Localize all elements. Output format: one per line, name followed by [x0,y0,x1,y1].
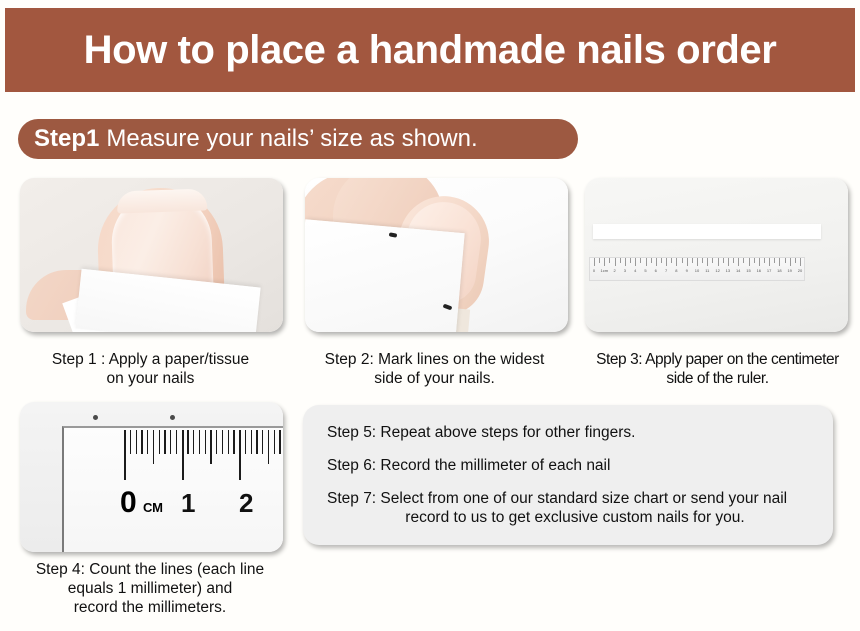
small-ruler-number: 19 [787,269,791,273]
photo-apply-paper [20,178,283,332]
ruler-minor-tick [164,430,165,454]
ruler-minor-tick [228,430,229,454]
header-banner: How to place a handmade nails order [5,8,855,92]
ruler-minor-tick [136,430,137,454]
ruler-zero-label: 0 [120,488,137,518]
small-ruler-number: 11 [705,269,709,273]
small-ruler-number: 10 [695,269,699,273]
ruler-unit-label: CM [143,500,163,515]
caption-step-1-line-2: on your nails [8,369,293,388]
small-ruler: 01cm234567891011121314151617181920 [589,257,805,281]
caption-step-4-line-1: Step 4: Count the lines (each line [0,560,300,579]
ruler-minor-tick [268,430,269,464]
small-ruler-number: 3 [624,269,626,273]
ruler-minor-tick [216,430,217,454]
ruler-major-tick [182,430,184,480]
page-title: How to place a handmade nails order [84,30,777,70]
small-ruler-number: 15 [746,269,750,273]
ruler-minor-tick [199,430,200,454]
ruler-minor-tick [193,430,194,454]
step-7-line-1: Step 7: Select from one of our standard … [327,490,787,507]
small-ruler-number: 2 [613,269,615,273]
small-ruler-number: 12 [715,269,719,273]
small-ruler-number: 20 [798,269,802,273]
ruler-number-1: 1 [181,490,195,516]
small-ruler-number: 17 [767,269,771,273]
caption-step-4-line-3: record the millimeters. [0,598,300,617]
caption-step-2-line-1: Step 2: Mark lines on the widest [292,350,577,369]
step1-text: Measure your nails’ size as shown. [106,125,477,153]
caption-step-4: Step 4: Count the lines (each line equal… [0,560,300,617]
small-ruler-number: 16 [757,269,761,273]
ruler-minor-tick [205,430,206,454]
ruler-minor-tick [141,430,142,454]
photo-apply-paper-image [20,178,283,332]
ruler-minor-tick [274,430,275,454]
caption-step-3-line-1: Step 3: Apply paper on the centimeter [575,350,860,369]
ruler-number-2: 2 [239,490,253,516]
ruler-minor-tick [170,430,171,454]
steps-panel: Step 5: Repeat above steps for other fin… [303,405,833,545]
small-ruler-number: 5 [644,269,646,273]
step1-banner: Step1 Measure your nails’ size as shown. [18,119,578,159]
photo-mark-lines-image [305,178,568,332]
small-ruler-number: 9 [686,269,688,273]
small-ruler-number: 8 [675,269,677,273]
caption-step-1-line-1: Step 1 : Apply a paper/tissue [8,350,293,369]
small-ruler-number: 6 [655,269,657,273]
photo-paper-on-ruler: 01cm234567891011121314151617181920 [585,178,848,332]
small-ruler-number: 14 [736,269,740,273]
small-ruler-number: 0 [593,269,595,273]
photo-mark-lines [305,178,568,332]
step-7-line-2: record to us to get exclusive custom nai… [327,508,809,527]
ruler-minor-tick [153,430,154,464]
ruler-minor-tick [159,430,160,454]
photo-ruler-closeup: 0 CM 1 2 3 [20,402,283,552]
ruler-minor-tick [279,430,280,454]
caption-step-3-line-2: side of the ruler. [575,369,860,388]
ruler-major-tick [124,430,126,480]
caption-step-3: Step 3: Apply paper on the centimeter si… [575,350,860,388]
ruler-minor-tick [222,430,223,454]
caption-step-1: Step 1 : Apply a paper/tissue on your na… [8,350,293,388]
ruler-minor-tick [210,430,211,464]
ruler-minor-tick [187,430,188,454]
photo-paper-on-ruler-image: 01cm234567891011121314151617181920 [585,178,848,332]
small-ruler-number: 7 [665,269,667,273]
ruler-major-tick [239,430,241,480]
step-5-line: Step 5: Repeat above steps for other fin… [327,423,809,442]
photo-ruler-closeup-image: 0 CM 1 2 3 [20,402,283,552]
ruler-minor-tick [251,430,252,454]
ruler-screw-left-icon [93,415,98,420]
small-ruler-number: 13 [726,269,730,273]
caption-step-4-line-2: equals 1 millimeter) and [0,579,300,598]
ruler-minor-tick [147,430,148,454]
small-ruler-number: 18 [777,269,781,273]
small-ruler-number: 4 [634,269,636,273]
step-6-line: Step 6: Record the millimeter of each na… [327,456,809,475]
ruler-minor-tick [262,430,263,454]
ruler-minor-tick [130,430,131,454]
ruler-minor-tick [245,430,246,454]
caption-step-2: Step 2: Mark lines on the widest side of… [292,350,577,388]
ruler-screw-right-icon [170,415,175,420]
ruler-minor-tick [256,430,257,454]
small-ruler-number: 1cm [601,269,609,273]
ruler-minor-tick [233,430,234,454]
ruler-minor-tick [176,430,177,454]
paper-strip [593,224,821,239]
step1-label: Step1 [34,125,99,153]
step-7-line: Step 7: Select from one of our standard … [327,489,809,527]
caption-step-2-line-2: side of your nails. [292,369,577,388]
